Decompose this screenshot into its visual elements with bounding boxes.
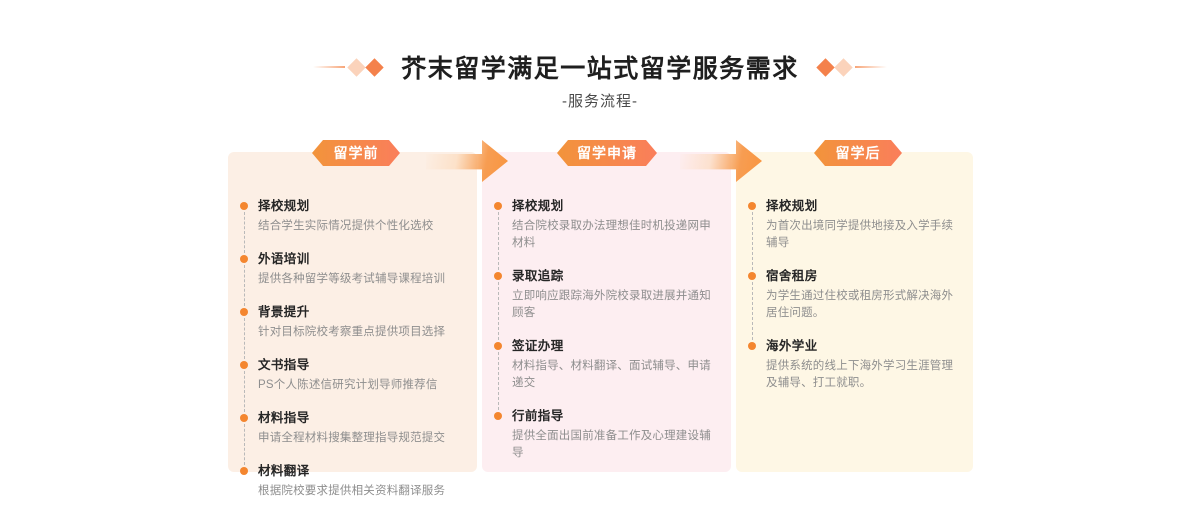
dashed-connector-icon <box>498 212 499 270</box>
flow-item: 背景提升针对目标院校考察重点提供项目选择 <box>228 304 477 341</box>
flow-item: 宿舍租房为学生通过住校或租房形式解决海外居住问题。 <box>736 268 973 322</box>
dashed-connector-icon <box>498 282 499 340</box>
flow-item-title: 背景提升 <box>258 304 463 320</box>
flow-item: 择校规划为首次出境同学提供地接及入学手续辅导 <box>736 198 973 252</box>
flow-item-description: PS个人陈述信研究计划导师推荐信 <box>258 377 463 394</box>
page-header: 芥末留学满足一站式留学服务需求 -服务流程- <box>0 0 1200 120</box>
flow-item-title: 签证办理 <box>512 338 717 354</box>
diamond-light-icon <box>348 58 366 76</box>
flow-item: 择校规划结合院校录取办法理想佳时机投递网申材料 <box>482 198 731 252</box>
flow-item-title: 择校规划 <box>258 198 463 214</box>
dashed-connector-icon <box>752 282 753 340</box>
flow-column-after: 择校规划为首次出境同学提供地接及入学手续辅导宿舍租房为学生通过住校或租房形式解决… <box>736 152 973 472</box>
flow-item: 行前指导提供全面出国前准备工作及心理建设辅导 <box>482 408 731 462</box>
flow-item-title: 录取追踪 <box>512 268 717 284</box>
bullet-dot-icon <box>240 361 248 369</box>
flow-item: 文书指导PS个人陈述信研究计划导师推荐信 <box>228 357 477 394</box>
diamond-light-icon <box>834 58 852 76</box>
dashed-connector-icon <box>244 212 245 253</box>
deco-line-icon <box>313 66 345 68</box>
title-decoration-right <box>819 61 887 74</box>
flow-item: 海外学业提供系统的线上下海外学习生涯管理及辅导、打工就职。 <box>736 338 973 392</box>
flow-item-title: 行前指导 <box>512 408 717 424</box>
flow-item-description: 结合院校录取办法理想佳时机投递网申材料 <box>512 218 717 252</box>
flow-item-description: 针对目标院校考察重点提供项目选择 <box>258 324 463 341</box>
dashed-connector-icon <box>244 371 245 412</box>
bullet-dot-icon <box>494 342 502 350</box>
bullet-dot-icon <box>494 272 502 280</box>
stage-badge-after: 留学后 <box>814 140 902 166</box>
flow-item: 择校规划结合学生实际情况提供个性化选校 <box>228 198 477 235</box>
bullet-dot-icon <box>748 202 756 210</box>
stage-badge-application: 留学申请 <box>557 140 657 166</box>
flow-item-description: 根据院校要求提供相关资料翻译服务 <box>258 483 463 500</box>
flow-item-title: 外语培训 <box>258 251 463 267</box>
flow-item-title: 宿舍租房 <box>766 268 959 284</box>
flow-item-description: 申请全程材料搜集整理指导规范提交 <box>258 430 463 447</box>
diamond-dark-icon <box>366 58 384 76</box>
flow-item-description: 提供各种留学等级考试辅导课程培训 <box>258 271 463 288</box>
flow-item-title: 文书指导 <box>258 357 463 373</box>
flow-item: 录取追踪立即响应跟踪海外院校录取进展并通知顾客 <box>482 268 731 322</box>
title-row: 芥末留学满足一站式留学服务需求 <box>0 50 1200 84</box>
bullet-dot-icon <box>494 412 502 420</box>
dashed-connector-icon <box>244 424 245 465</box>
bullet-dot-icon <box>494 202 502 210</box>
service-flow-diagram: 择校规划结合学生实际情况提供个性化选校外语培训提供各种留学等级考试辅导课程培训背… <box>228 140 973 472</box>
flow-item: 材料翻译根据院校要求提供相关资料翻译服务 <box>228 463 477 500</box>
flow-item-list: 择校规划结合院校录取办法理想佳时机投递网申材料录取追踪立即响应跟踪海外院校录取进… <box>482 198 731 478</box>
flow-item-title: 择校规划 <box>512 198 717 214</box>
deco-line-icon <box>855 66 887 68</box>
flow-item-description: 为首次出境同学提供地接及入学手续辅导 <box>766 218 959 252</box>
flow-column-application: 择校规划结合院校录取办法理想佳时机投递网申材料录取追踪立即响应跟踪海外院校录取进… <box>482 152 731 472</box>
flow-item-title: 材料指导 <box>258 410 463 426</box>
bullet-dot-icon <box>240 308 248 316</box>
flow-item-title: 材料翻译 <box>258 463 463 479</box>
flow-item-description: 结合学生实际情况提供个性化选校 <box>258 218 463 235</box>
bullet-dot-icon <box>240 467 248 475</box>
dashed-connector-icon <box>244 318 245 359</box>
bullet-dot-icon <box>748 342 756 350</box>
flow-item-description: 提供全面出国前准备工作及心理建设辅导 <box>512 428 717 462</box>
title-decoration-left <box>313 61 381 74</box>
bullet-dot-icon <box>748 272 756 280</box>
flow-item-list: 择校规划为首次出境同学提供地接及入学手续辅导宿舍租房为学生通过住校或租房形式解决… <box>736 198 973 408</box>
dashed-connector-icon <box>498 352 499 410</box>
flow-item-description: 提供系统的线上下海外学习生涯管理及辅导、打工就职。 <box>766 358 959 392</box>
dashed-connector-icon <box>752 212 753 270</box>
flow-item-description: 为学生通过住校或租房形式解决海外居住问题。 <box>766 288 959 322</box>
diamond-dark-icon <box>816 58 834 76</box>
dashed-connector-icon <box>244 265 245 306</box>
flow-item: 签证办理材料指导、材料翻译、面试辅导、申请递交 <box>482 338 731 392</box>
flow-column-before: 择校规划结合学生实际情况提供个性化选校外语培训提供各种留学等级考试辅导课程培训背… <box>228 152 477 472</box>
page-title: 芥末留学满足一站式留学服务需求 <box>391 49 809 85</box>
bullet-dot-icon <box>240 414 248 422</box>
flow-item-description: 材料指导、材料翻译、面试辅导、申请递交 <box>512 358 717 392</box>
bullet-dot-icon <box>240 255 248 263</box>
flow-item-title: 择校规划 <box>766 198 959 214</box>
flow-item-title: 海外学业 <box>766 338 959 354</box>
flow-item: 材料指导申请全程材料搜集整理指导规范提交 <box>228 410 477 447</box>
page-subtitle: -服务流程- <box>0 90 1200 111</box>
bullet-dot-icon <box>240 202 248 210</box>
flow-item-list: 择校规划结合学生实际情况提供个性化选校外语培训提供各种留学等级考试辅导课程培训背… <box>228 198 477 516</box>
flow-item-description: 立即响应跟踪海外院校录取进展并通知顾客 <box>512 288 717 322</box>
flow-item: 外语培训提供各种留学等级考试辅导课程培训 <box>228 251 477 288</box>
stage-badge-before: 留学前 <box>312 140 400 166</box>
